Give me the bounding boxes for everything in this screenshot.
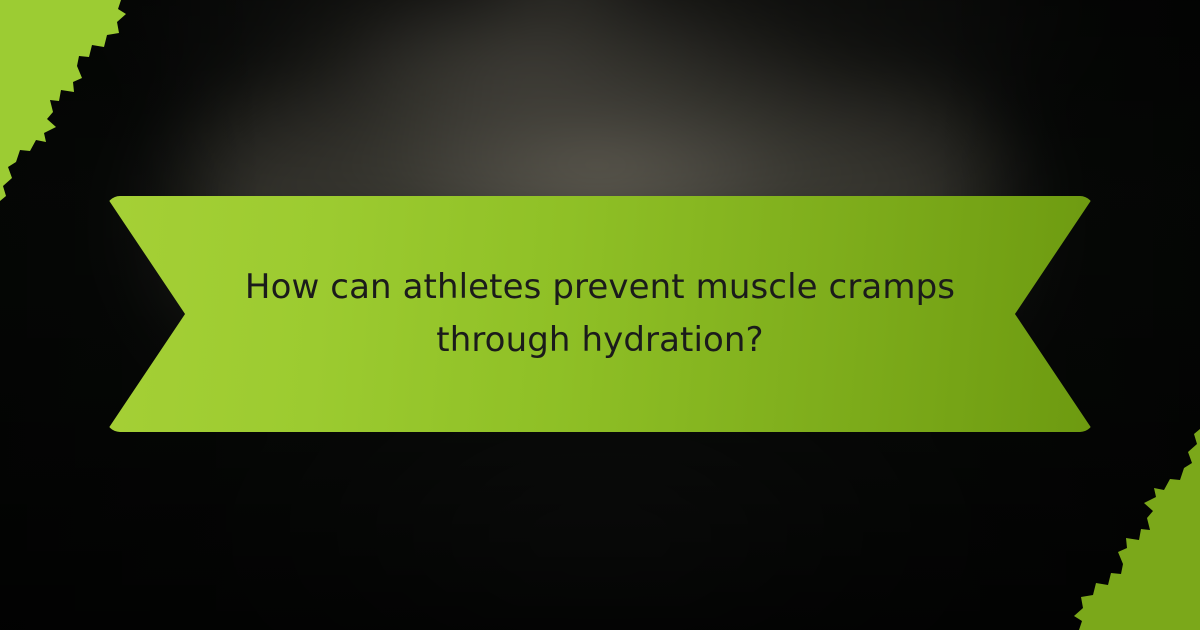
headline-banner: How can athletes prevent muscle cramps t…: [106, 196, 1094, 432]
headline-text: How can athletes prevent muscle cramps t…: [106, 196, 1094, 432]
social-card: How can athletes prevent muscle cramps t…: [0, 0, 1200, 630]
